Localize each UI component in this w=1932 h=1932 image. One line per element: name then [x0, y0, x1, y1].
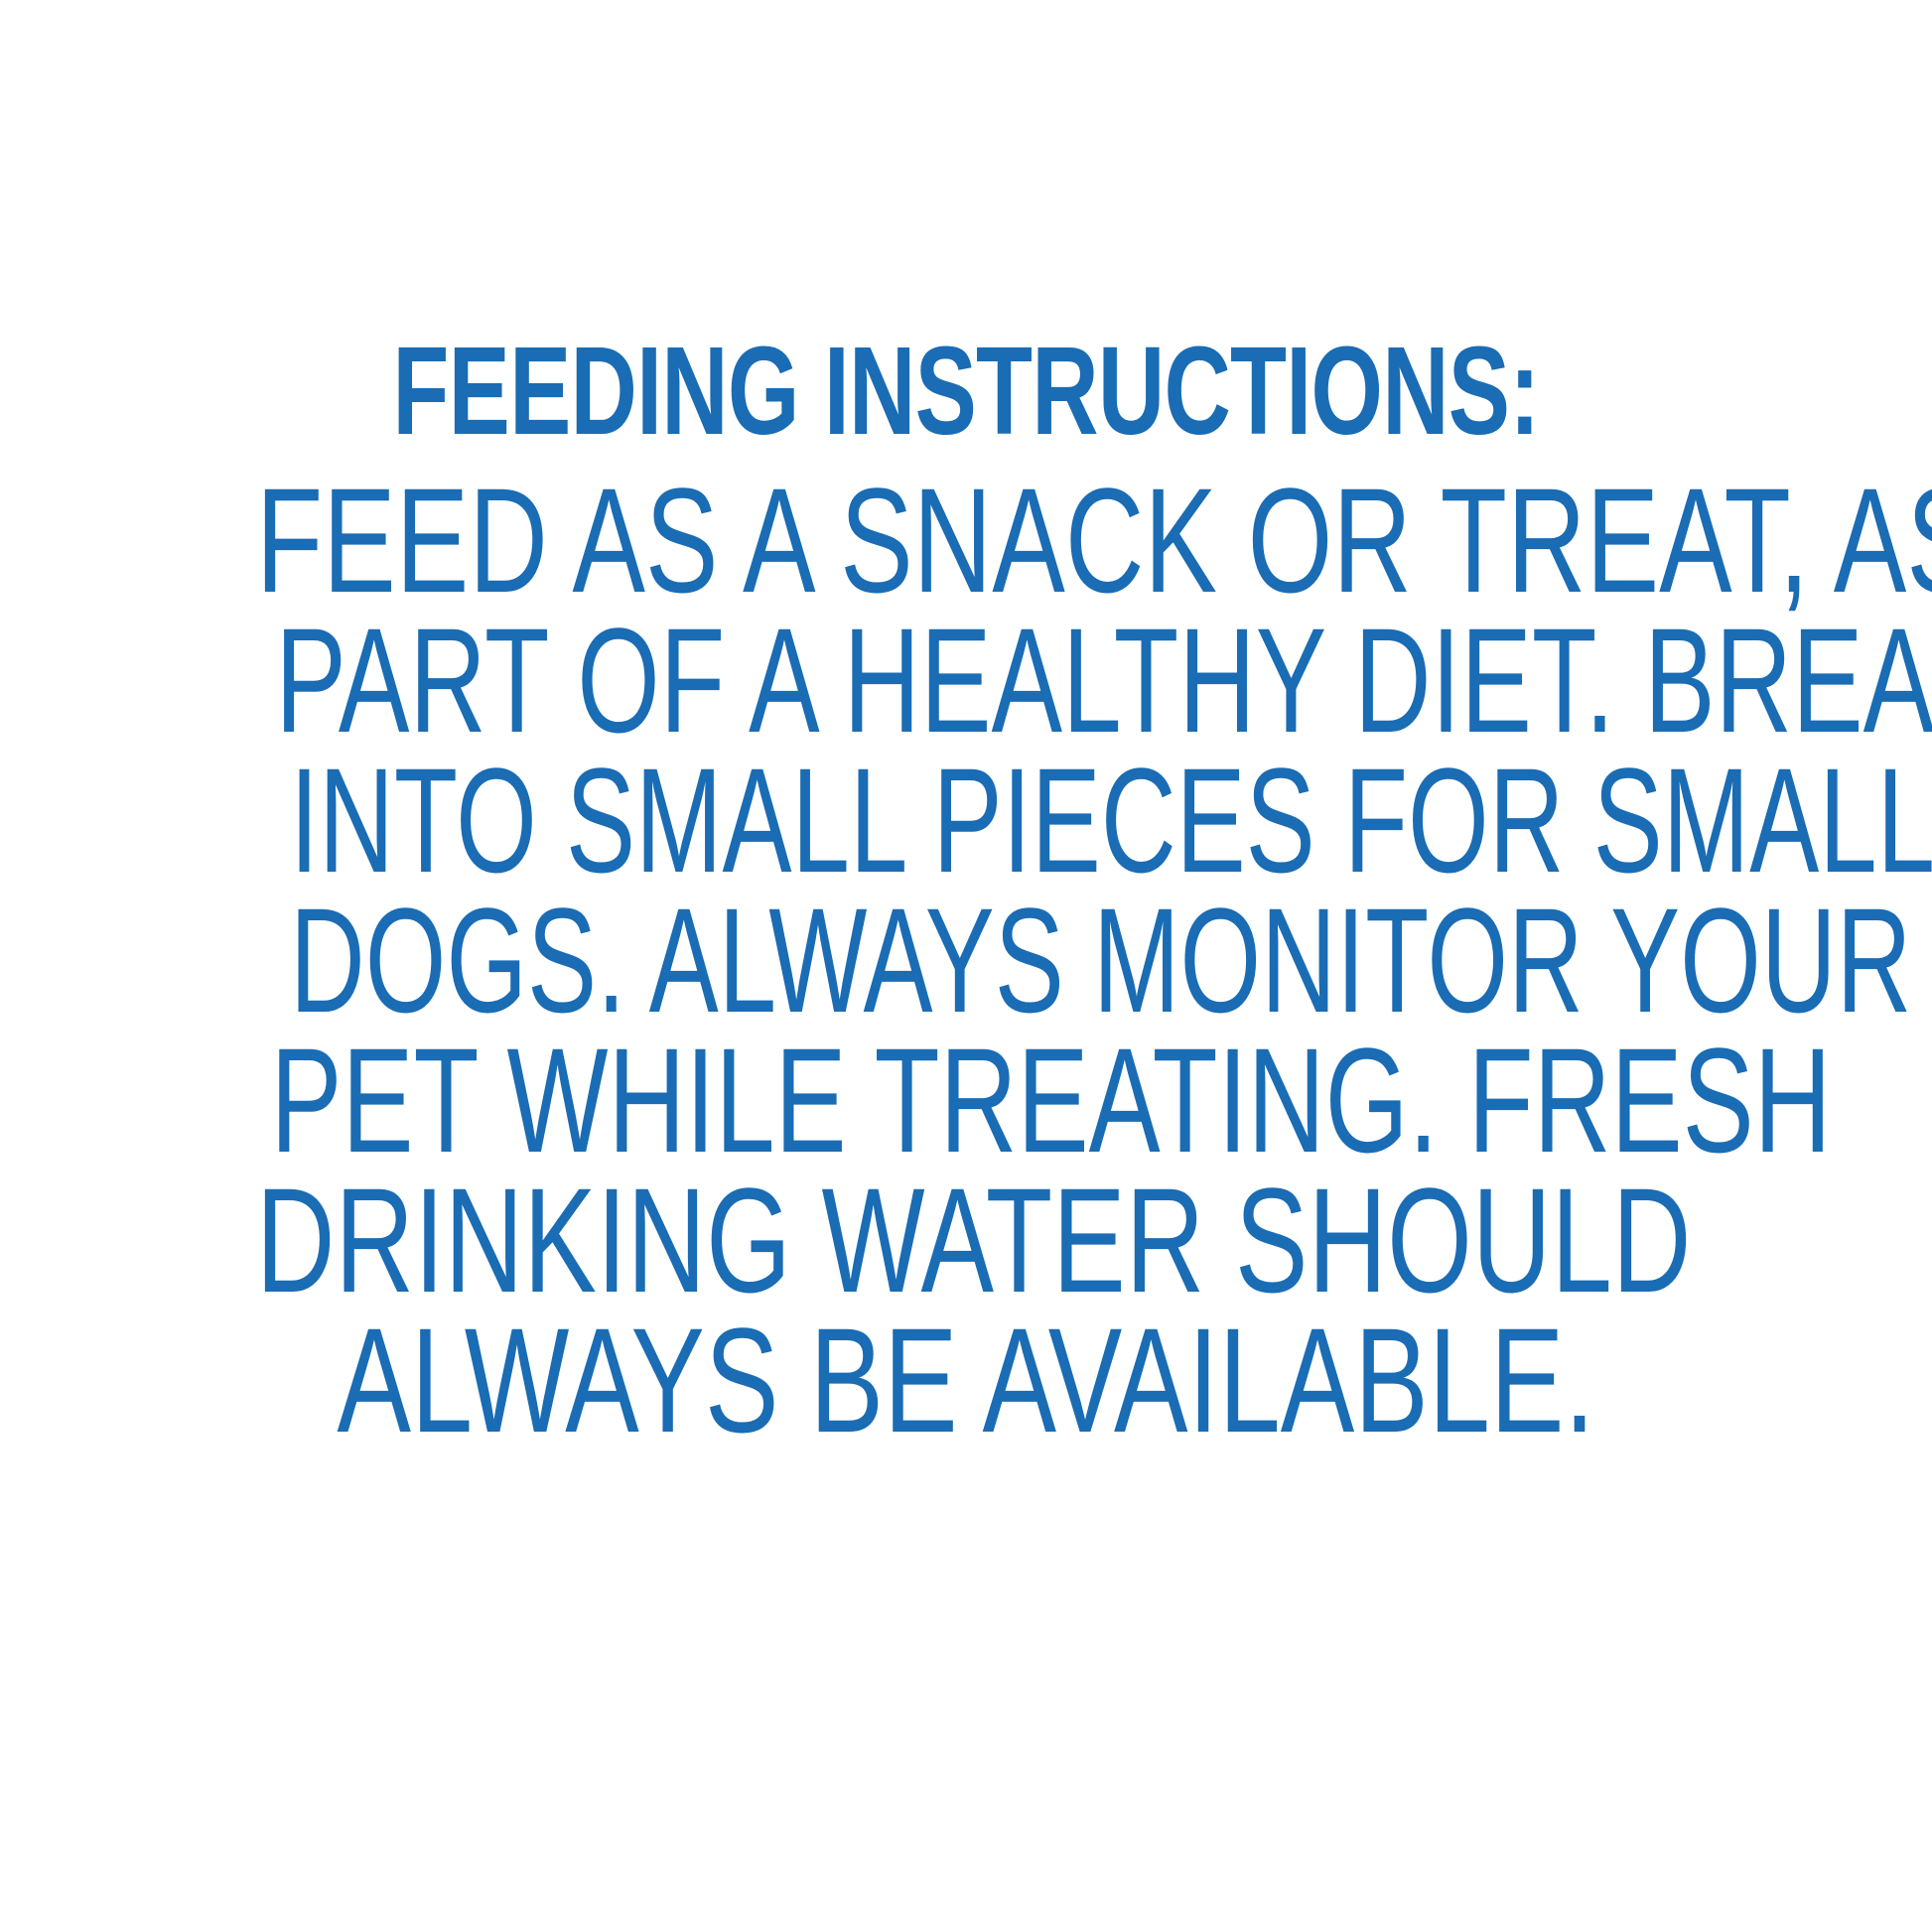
feeding-instructions-line: DOGS. ALWAYS MONITOR YOUR: [290, 891, 1642, 1031]
feeding-instructions-line: PART OF A HEALTHY DIET. BREAK: [275, 611, 1656, 751]
feeding-instructions-line: DRINKING WATER SHOULD: [256, 1171, 1676, 1311]
feeding-instructions-line: FEED AS A SNACK OR TREAT, AS: [256, 471, 1676, 611]
feeding-instructions-line: PET WHILE TREATING. FRESH: [270, 1031, 1661, 1171]
feeding-instructions-heading: FEEDING INSTRUCTIONS:: [251, 328, 1681, 455]
feeding-instructions-label-panel: FEEDING INSTRUCTIONS: FEED AS A SNACK OR…: [0, 0, 1932, 1932]
feeding-instructions-line: INTO SMALL PIECES FOR SMALL: [290, 751, 1642, 891]
feeding-instructions-body: FEED AS A SNACK OR TREAT, AS PART OF A H…: [0, 471, 1932, 1450]
feeding-instructions-block: FEEDING INSTRUCTIONS: FEED AS A SNACK OR…: [0, 328, 1932, 1450]
feeding-instructions-line: ALWAYS BE AVAILABLE.: [246, 1311, 1686, 1450]
